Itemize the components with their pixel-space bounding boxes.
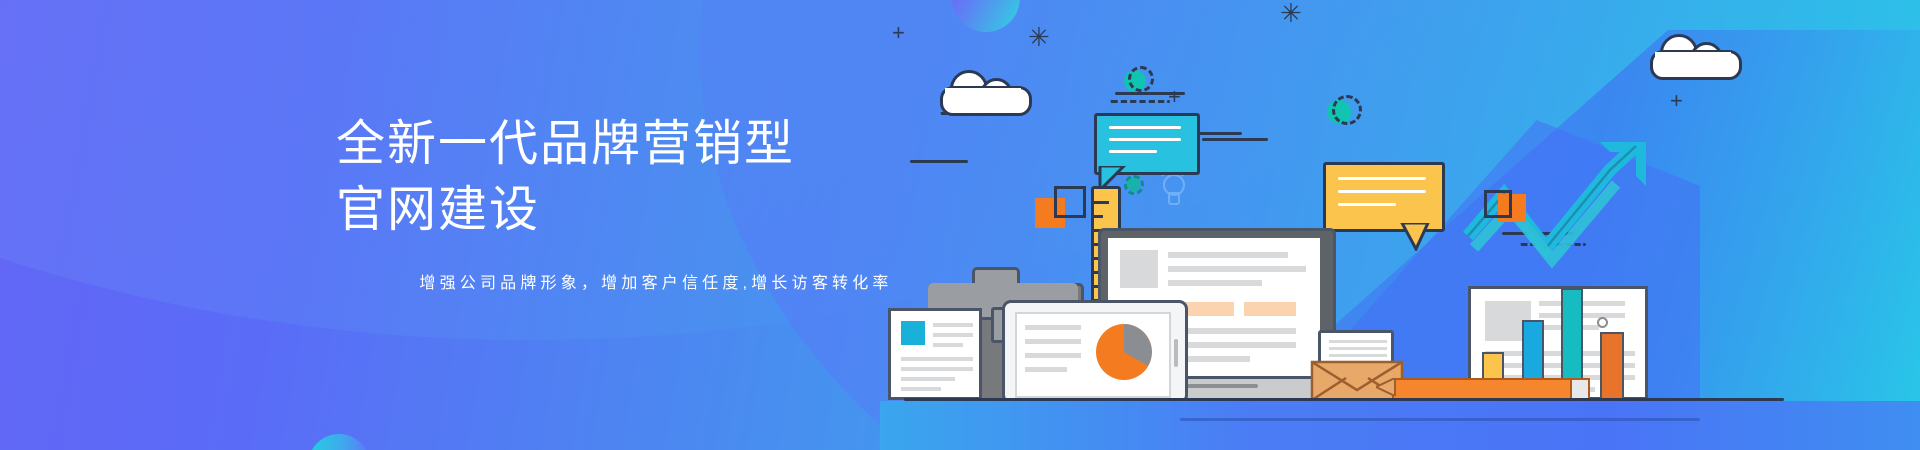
speech-bubble-yellow [1323, 162, 1445, 232]
pie-chart-icon [1091, 319, 1157, 385]
lightbulb-icon [1158, 172, 1186, 206]
decor-line-dashed [1110, 100, 1170, 103]
outlined-square [1484, 190, 1512, 218]
plus-icon: + [1670, 90, 1683, 112]
outlined-square [1054, 186, 1086, 218]
asterisk-icon: ✳ [1280, 0, 1302, 26]
plus-icon: + [892, 22, 905, 44]
plus-icon: + [1168, 86, 1181, 108]
pencil-icon [1376, 378, 1606, 396]
speech-bubble-yellow-tail [1400, 223, 1434, 251]
document-sheet [888, 308, 982, 400]
decor-line [1115, 92, 1185, 95]
growth-arrow-shadow-icon [1470, 168, 1720, 278]
decor-line [1202, 138, 1268, 141]
tablet-pie-chart [1002, 300, 1188, 404]
dashed-circle-icon [1332, 95, 1362, 125]
desk-band-line [1180, 418, 1700, 421]
dashed-circle-icon [1128, 66, 1154, 92]
asterisk-icon: ✳ [1028, 24, 1050, 50]
hero-illustration: + + + + ✳ ✳ [880, 0, 1920, 450]
cloud-icon [940, 76, 1026, 110]
hero-banner: 全新一代品牌营销型 官网建设 增强公司品牌形象，增加客户信任度,增长访客转化率 … [0, 0, 1920, 450]
decor-line [910, 160, 968, 163]
desk-band [880, 401, 1920, 450]
cloud-icon [1650, 40, 1736, 74]
